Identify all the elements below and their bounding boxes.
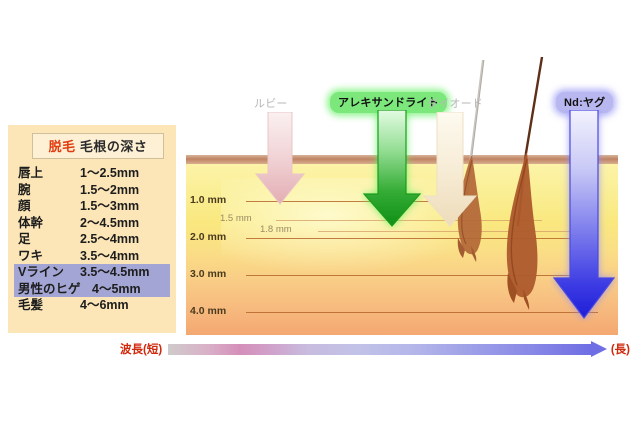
depth-row-body-part: 男性のヒゲ	[18, 283, 92, 296]
wavelength-arrowhead-icon	[591, 341, 607, 357]
depth-table-row: 体幹2〜4.5mm	[14, 215, 170, 232]
depth-table-row: 顔1.5〜3mm	[14, 198, 170, 215]
depth-table-row: 毛髪4〜6mm	[14, 297, 170, 314]
wavelength-bar-wrap	[168, 343, 607, 356]
laser-label-ruby: ルビー	[254, 95, 288, 111]
depth-table-row: Vライン3.5〜4.5mm	[14, 264, 170, 281]
depth-row-value: 3.5〜4.5mm	[80, 266, 168, 279]
depth-table-rows: 唇上1〜2.5mm腕1.5〜2mm顔1.5〜3mm体幹2〜4.5mm足2.5〜4…	[14, 165, 170, 314]
depth-row-value: 1.5〜2mm	[80, 184, 168, 197]
depth-row-value: 1〜2.5mm	[80, 167, 168, 180]
depth-rule-label: 1.0 mm	[190, 194, 226, 206]
laser-label-diode: ダイオード	[427, 95, 483, 111]
hair-follicle-long	[476, 57, 556, 317]
depth-table-row: 男性のヒゲ4〜5mm	[14, 281, 170, 298]
depth-rule-label: 1.5 mm	[220, 213, 252, 224]
depth-table-header-keyword: 脱毛	[49, 139, 76, 154]
depth-rule-label: 4.0 mm	[190, 305, 226, 317]
depth-row-body-part: ワキ	[18, 250, 80, 263]
wavelength-scale: 波長(短) (長)	[120, 339, 630, 359]
depth-table-row: ワキ3.5〜4mm	[14, 248, 170, 265]
depth-row-body-part: 唇上	[18, 167, 80, 180]
depth-row-body-part: 足	[18, 233, 80, 246]
laser-arrow-alexandrite	[360, 110, 424, 230]
hair-removal-laser-depth-diagram: 脱毛 毛根の深さ 唇上1〜2.5mm腕1.5〜2mm顔1.5〜3mm体幹2〜4.…	[0, 0, 640, 426]
depth-row-value: 2.5〜4mm	[80, 233, 168, 246]
depth-row-value: 4〜5mm	[92, 283, 168, 296]
depth-row-body-part: 体幹	[18, 217, 80, 230]
depth-row-value: 1.5〜3mm	[80, 200, 168, 213]
depth-row-value: 4〜6mm	[80, 299, 168, 312]
depth-table-row: 腕1.5〜2mm	[14, 182, 170, 199]
depth-rule-label: 1.8 mm	[260, 224, 292, 235]
laser-arrow-ruby	[252, 112, 308, 206]
depth-table-row: 足2.5〜4mm	[14, 231, 170, 248]
depth-row-body-part: 顔	[18, 200, 80, 213]
depth-row-value: 2〜4.5mm	[80, 217, 168, 230]
laser-arrow-diode	[420, 112, 480, 230]
depth-table-header-title: 毛根の深さ	[80, 139, 148, 154]
depth-row-value: 3.5〜4mm	[80, 250, 168, 263]
depth-rule-label: 3.0 mm	[190, 268, 226, 280]
depth-row-body-part: Vライン	[18, 266, 80, 279]
depth-table-row: 唇上1〜2.5mm	[14, 165, 170, 182]
laser-arrow-ndyag	[550, 110, 620, 322]
depth-rule-label: 2.0 mm	[190, 231, 226, 243]
wavelength-gradient-bar	[168, 344, 591, 355]
depth-row-body-part: 毛髪	[18, 299, 80, 312]
wavelength-long-label: (長)	[611, 341, 630, 357]
hair-root-depth-table: 脱毛 毛根の深さ 唇上1〜2.5mm腕1.5〜2mm顔1.5〜3mm体幹2〜4.…	[8, 125, 176, 333]
depth-table-header: 脱毛 毛根の深さ	[32, 133, 164, 159]
depth-row-body-part: 腕	[18, 184, 80, 197]
wavelength-short-label: 波長(短)	[120, 341, 162, 357]
